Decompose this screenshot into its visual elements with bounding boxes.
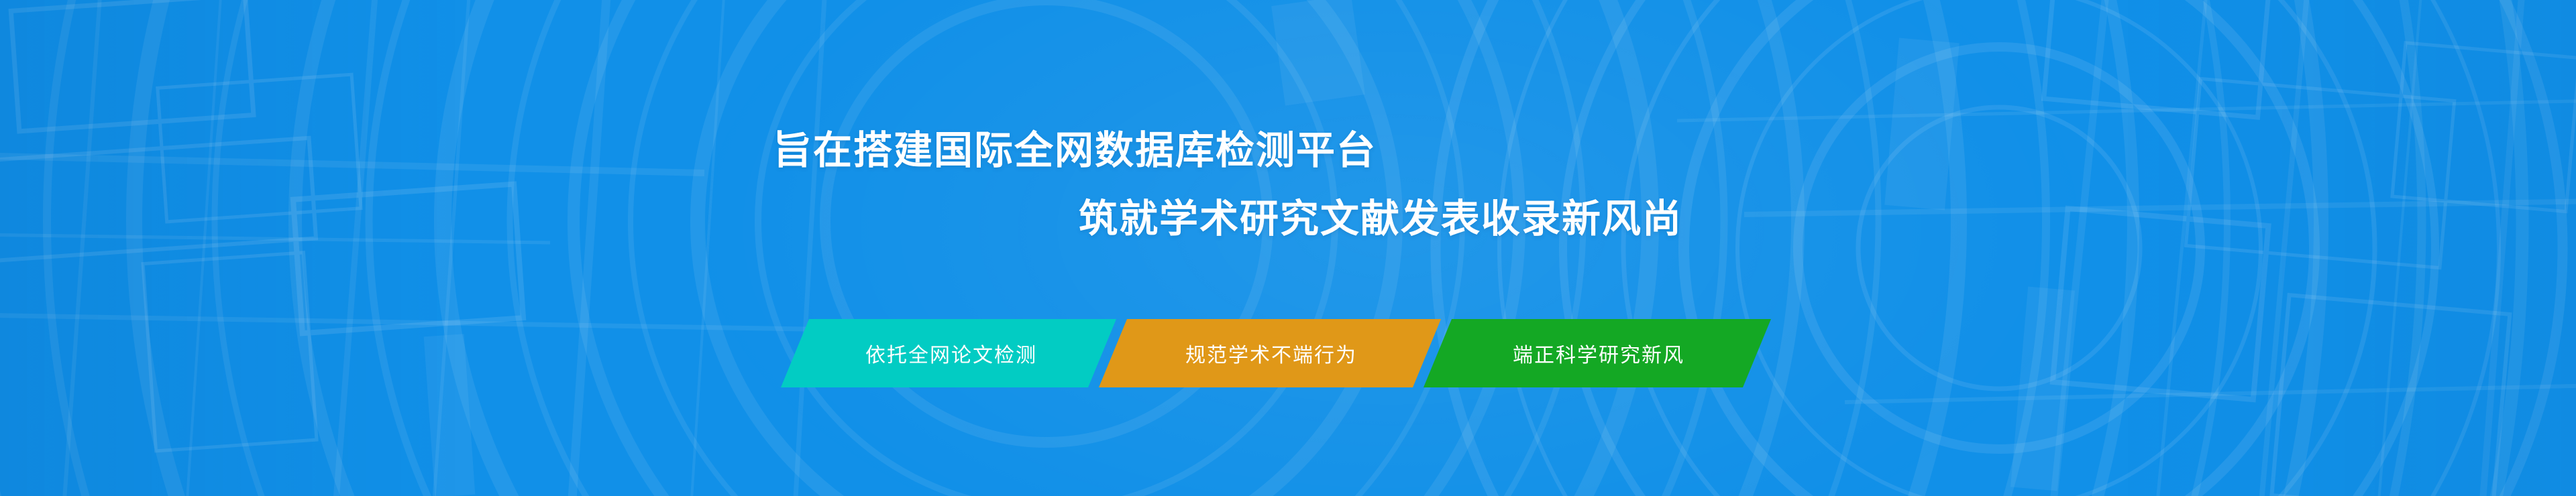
background-decoration [0,0,2576,496]
hero-banner: 旨在搭建国际全网数据库检测平台 筑就学术研究文献发表收录新风尚 依托全网论文检测… [0,0,2576,496]
headline-line-1: 旨在搭建国际全网数据库检测平台 [773,131,1377,170]
headline-line-2: 筑就学术研究文献发表收录新风尚 [1079,200,1682,239]
feature-tag-misconduct-regulation-label: 规范学术不端行为 [1185,338,1357,368]
feature-tag-misconduct-regulation[interactable]: 规范学术不端行为 [1099,319,1441,387]
feature-tag-research-ethics-label: 端正科学研究新风 [1513,338,1684,368]
feature-tag-research-ethics[interactable]: 端正科学研究新风 [1424,319,1771,387]
background-vignette [0,0,2576,496]
feature-tag-paper-detection[interactable]: 依托全网论文检测 [781,319,1116,387]
tech-grid-lines [0,0,2576,496]
feature-tag-strip: 依托全网论文检测 规范学术不端行为 端正科学研究新风 [771,319,1811,387]
feature-tag-paper-detection-label: 依托全网论文检测 [865,338,1037,368]
